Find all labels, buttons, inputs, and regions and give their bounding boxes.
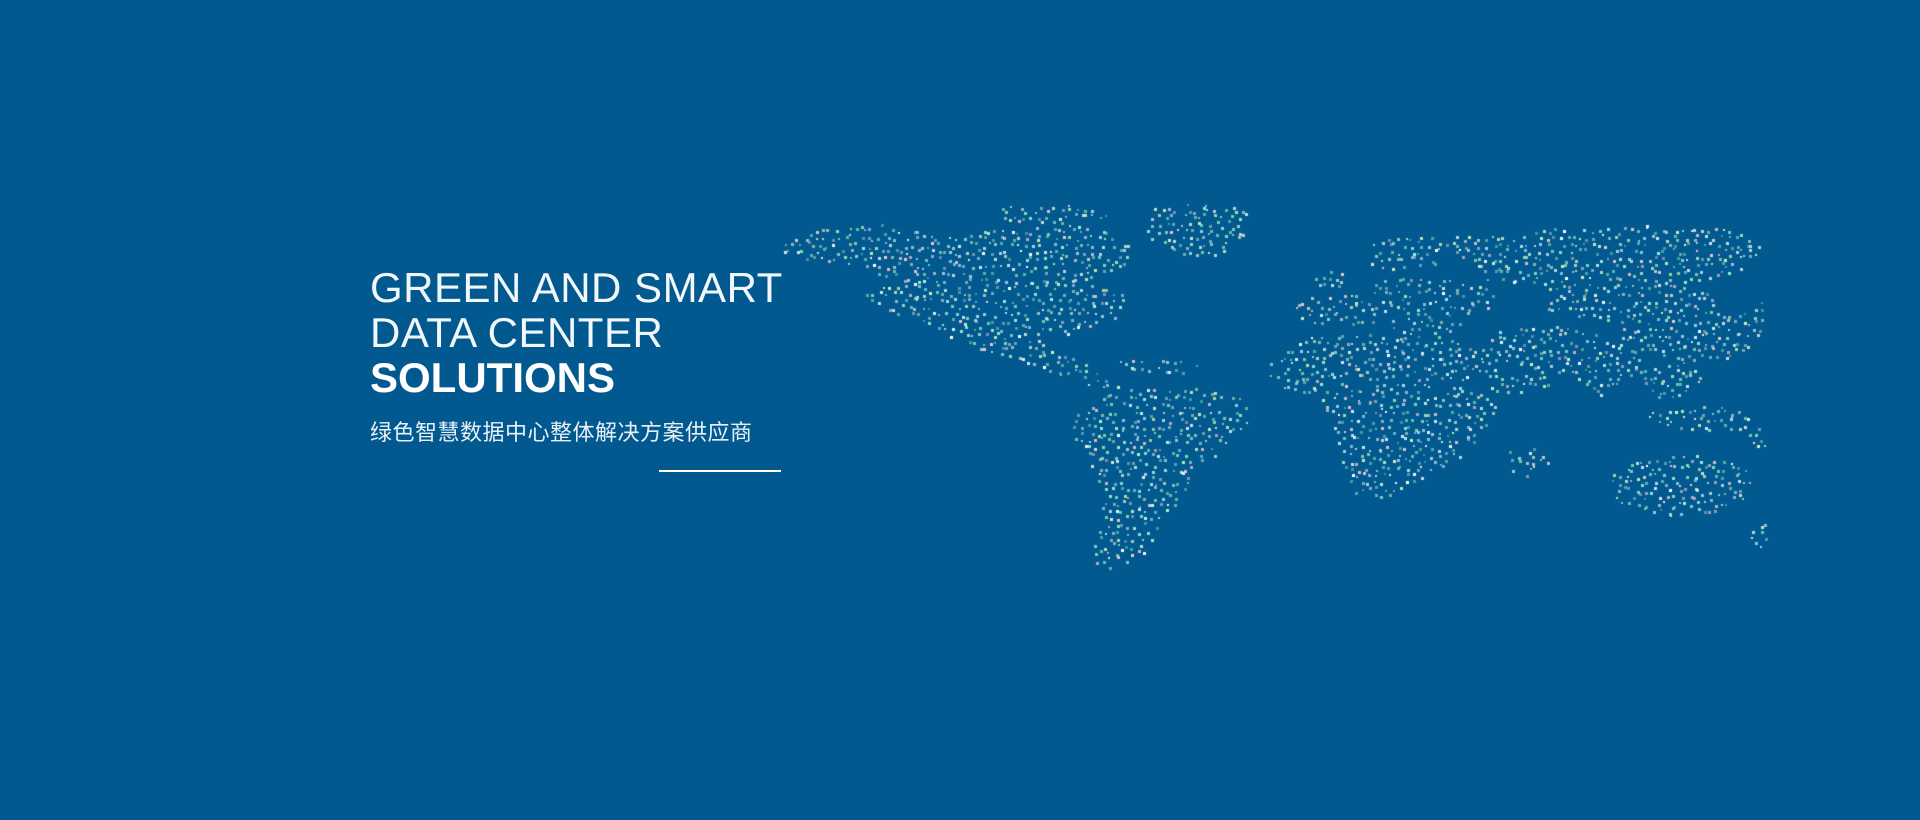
subtitle-chinese: 绿色智慧数据中心整体解决方案供应商 <box>370 418 1070 448</box>
hero-banner: GREEN AND SMART DATA CENTER SOLUTIONS 绿色… <box>0 0 1920 820</box>
divider-rule <box>659 470 781 472</box>
headline-line-3: SOLUTIONS <box>370 355 1070 400</box>
headline-line-1: GREEN AND SMART <box>370 265 1070 310</box>
headline-line-2: DATA CENTER <box>370 310 1070 355</box>
headline-block: GREEN AND SMART DATA CENTER SOLUTIONS 绿色… <box>370 265 1070 480</box>
